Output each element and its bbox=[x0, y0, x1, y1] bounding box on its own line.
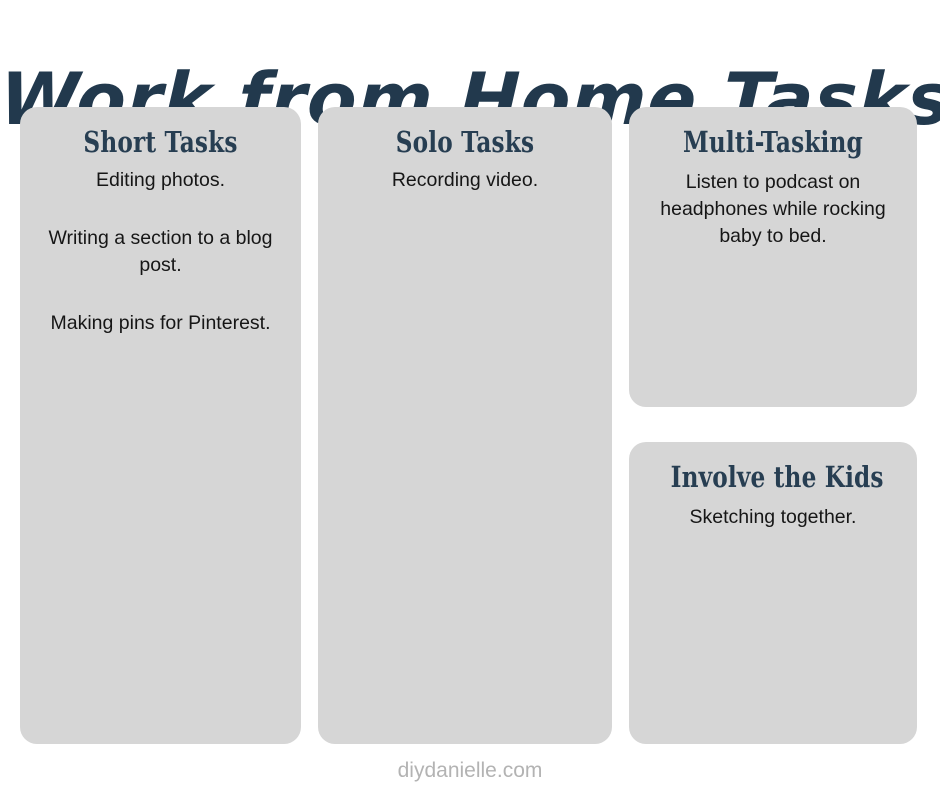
card-multi-tasking: Multi-Tasking Listen to podcast on headp… bbox=[629, 107, 917, 407]
card-short-tasks: Short Tasks Editing photos. Writing a se… bbox=[20, 107, 301, 744]
card-involve-the-kids: Involve the Kids Sketching together. bbox=[629, 442, 917, 744]
list-item: Listen to podcast on headphones while ro… bbox=[645, 169, 901, 250]
column-solo-tasks: Solo Tasks Recording video. bbox=[318, 107, 612, 744]
list-item: Sketching together. bbox=[645, 504, 901, 531]
list-item: Recording video. bbox=[334, 167, 596, 194]
card-heading-short-tasks: Short Tasks bbox=[61, 125, 260, 159]
card-heading-multi-tasking: Multi-Tasking bbox=[671, 125, 876, 159]
list-item: Making pins for Pinterest. bbox=[36, 310, 285, 337]
card-body-solo-tasks: Recording video. bbox=[334, 167, 596, 194]
card-body-multi-tasking: Listen to podcast on headphones while ro… bbox=[645, 169, 901, 250]
column-short-tasks: Short Tasks Editing photos. Writing a se… bbox=[20, 107, 301, 744]
watermark-site-url: diydanielle.com bbox=[0, 758, 940, 784]
card-body-short-tasks: Editing photos. Writing a section to a b… bbox=[36, 167, 285, 337]
column-multi-tasking-and-kids: Multi-Tasking Listen to podcast on headp… bbox=[629, 107, 917, 744]
card-solo-tasks: Solo Tasks Recording video. bbox=[318, 107, 612, 744]
columns-container: Short Tasks Editing photos. Writing a se… bbox=[20, 107, 922, 744]
card-heading-solo-tasks: Solo Tasks bbox=[360, 125, 570, 159]
list-item: Editing photos. bbox=[36, 167, 285, 194]
card-heading-involve-the-kids: Involve the Kids bbox=[671, 460, 876, 494]
card-body-involve-the-kids: Sketching together. bbox=[645, 504, 901, 531]
list-item: Writing a section to a blog post. bbox=[36, 225, 285, 279]
infographic-canvas: Work from Home Tasks Short Tasks Editing… bbox=[0, 0, 940, 788]
